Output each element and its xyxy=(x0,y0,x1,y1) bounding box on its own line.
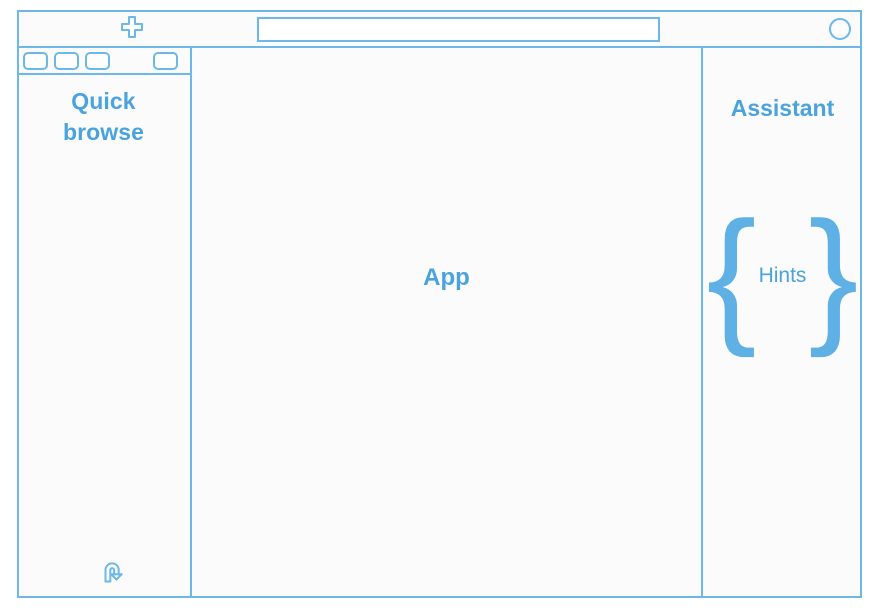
sidebar-title-line-2: browse xyxy=(17,117,190,148)
window-control-button-2[interactable] xyxy=(54,52,79,70)
window-control-button-4[interactable] xyxy=(153,52,178,70)
sidebar-title-line-1: Quick xyxy=(17,86,190,117)
sidebar-title: Quick browse xyxy=(17,86,190,147)
app-content-area[interactable]: App xyxy=(192,48,703,598)
new-tab-button[interactable] xyxy=(98,12,166,46)
address-search-input[interactable] xyxy=(257,17,660,42)
quick-browse-sidebar: Quick browse xyxy=(17,48,192,598)
app-label: App xyxy=(423,264,470,292)
window-control-button-1[interactable] xyxy=(23,52,48,70)
account-avatar-button[interactable] xyxy=(825,16,855,46)
wireframe-canvas: Quick browse App Assistant { Hints } xyxy=(0,0,879,616)
window-controls-bar xyxy=(17,48,190,75)
window-control-button-3[interactable] xyxy=(85,52,110,70)
hints-label: Hints xyxy=(759,264,807,288)
plus-icon xyxy=(120,15,144,44)
assistant-panel: Assistant { Hints } xyxy=(703,48,862,598)
hints-block: { Hints } xyxy=(717,203,848,348)
assistant-title: Assistant xyxy=(703,95,862,122)
u-turn-arrow-icon xyxy=(99,558,129,591)
circle-avatar-icon xyxy=(828,17,852,46)
undo-button[interactable] xyxy=(97,558,131,590)
browser-top-bar xyxy=(17,10,862,48)
